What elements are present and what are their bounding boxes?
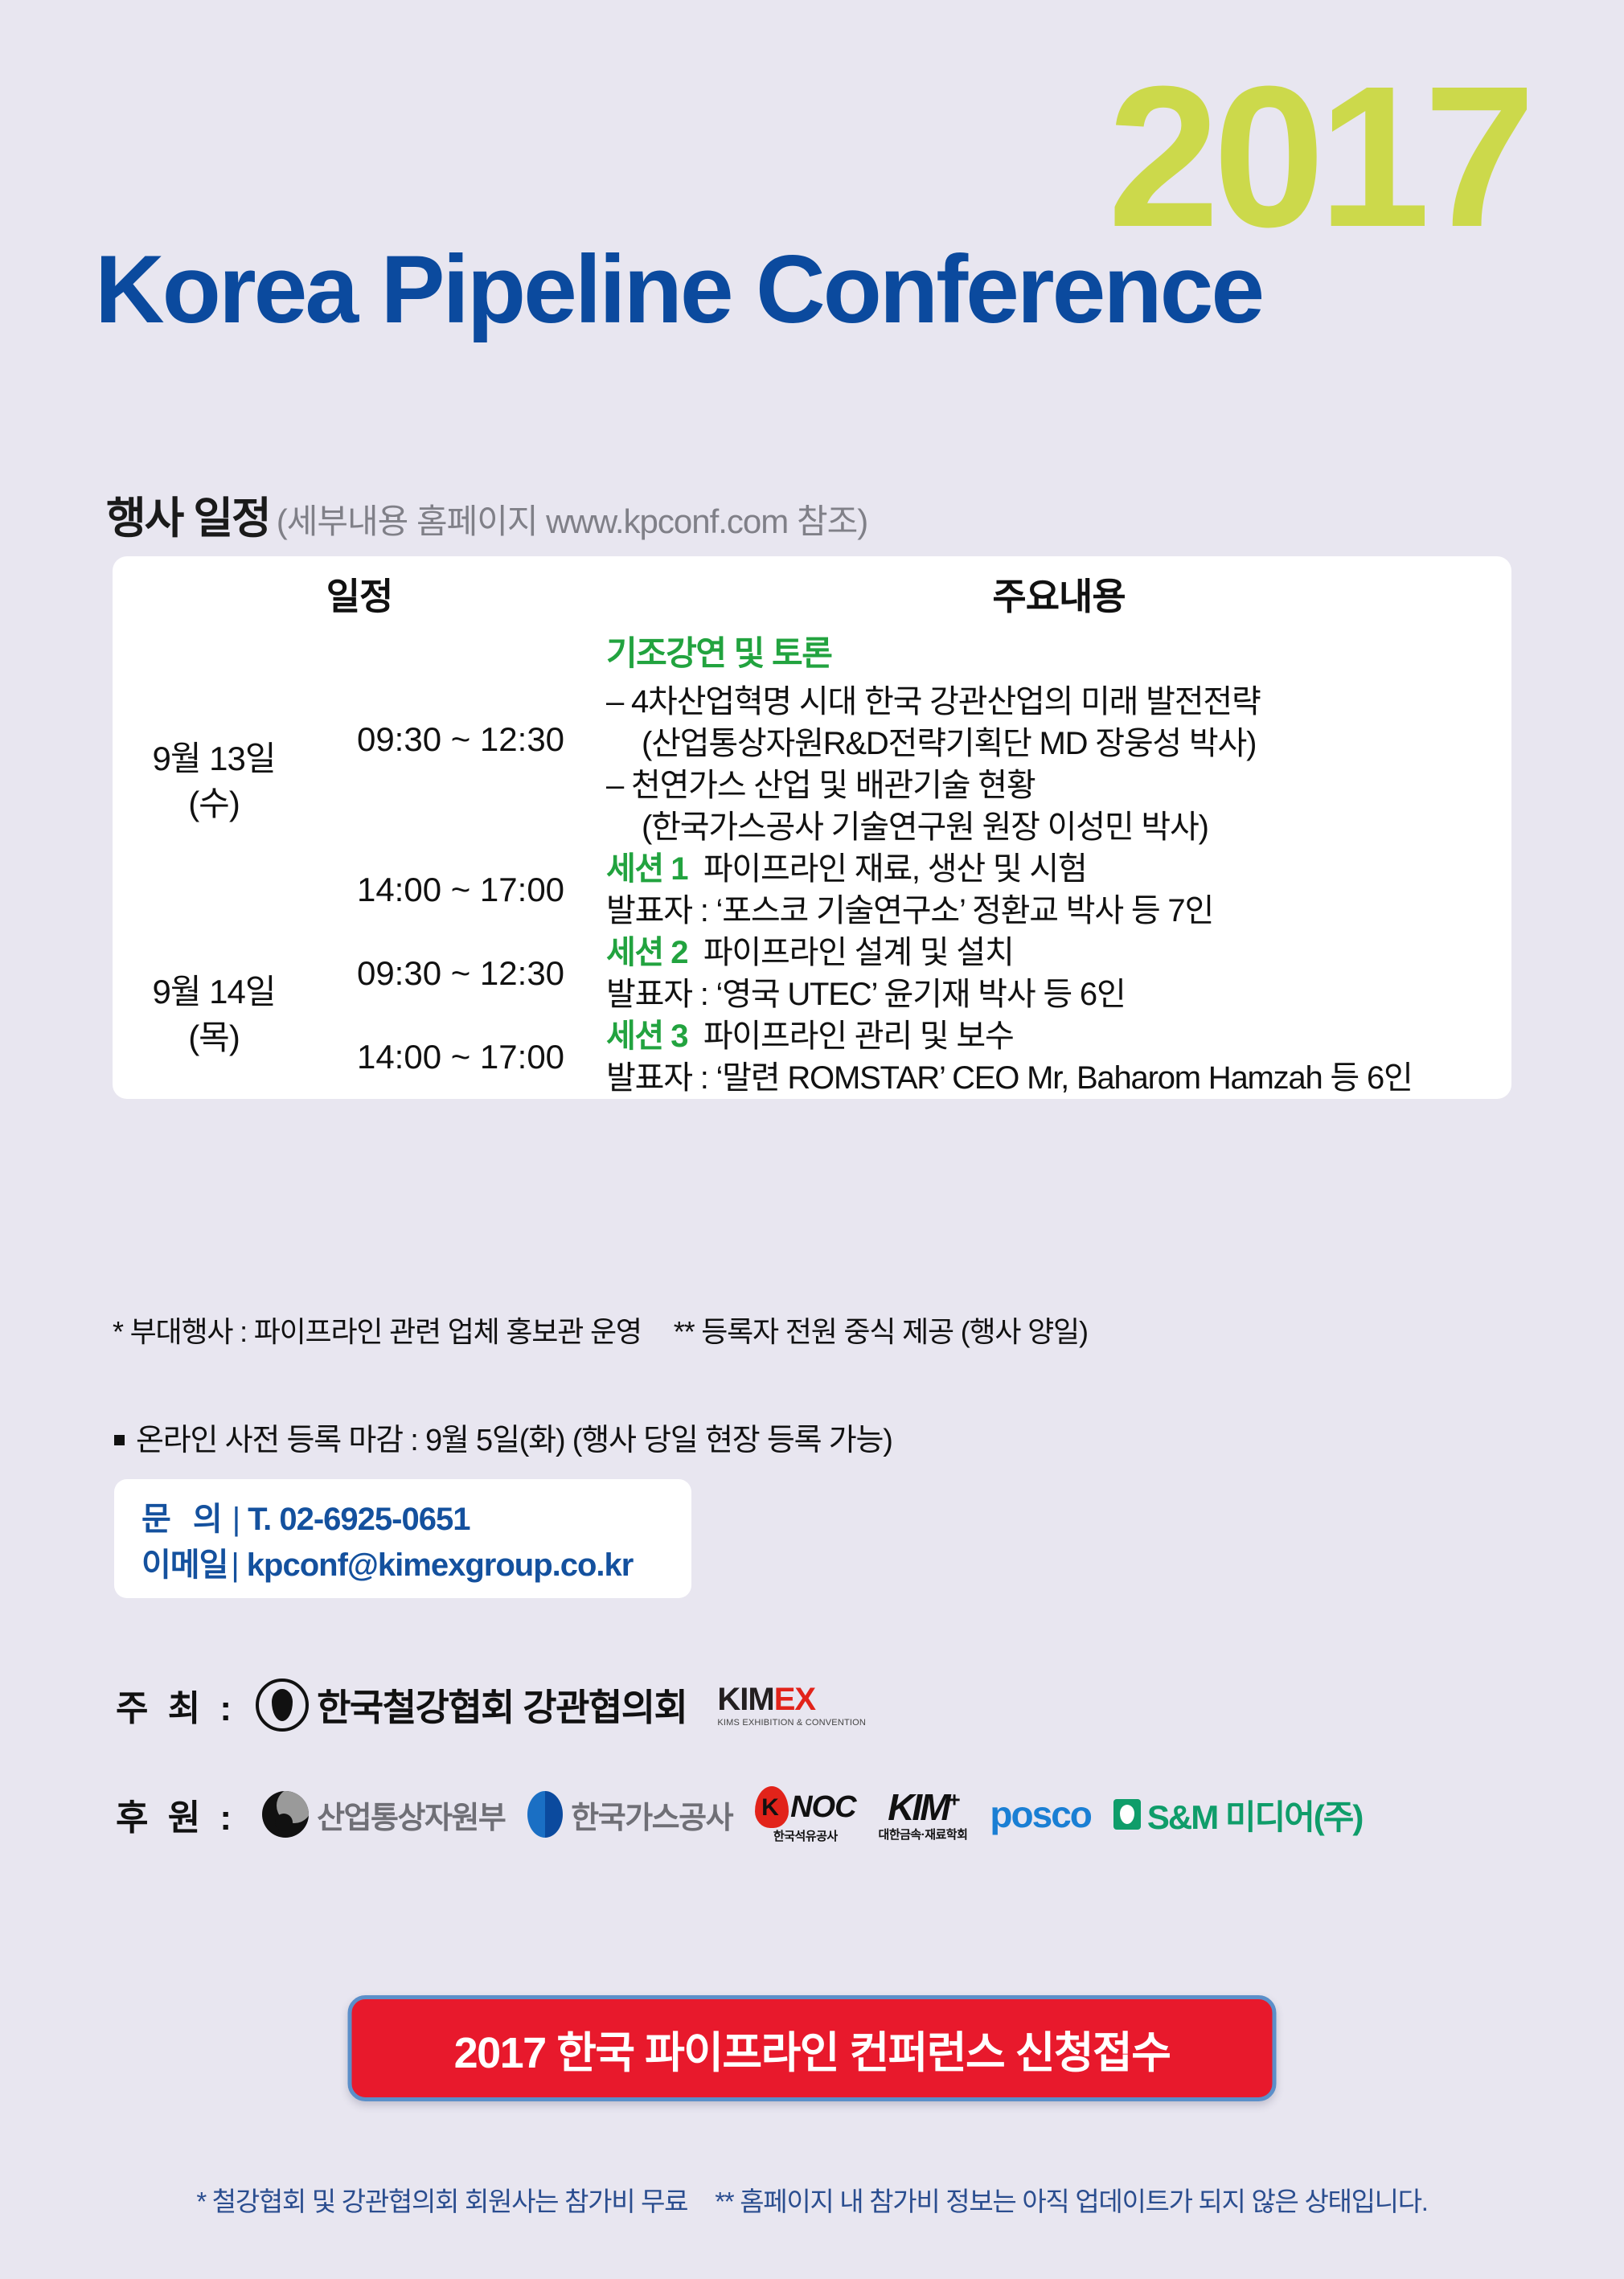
sponsor-knoc: NOC 한국석유공사 — [755, 1786, 855, 1842]
contact-phone-row: 문 의|T. 02-6925-0651 — [141, 1497, 691, 1543]
session3-presenter: 발표자 : ‘말련 ROMSTAR’ CEO Mr, Baharom Hamza… — [606, 1057, 1511, 1099]
knoc-mark-icon — [755, 1786, 789, 1828]
sponsor-kogas: 한국가스공사 — [527, 1791, 732, 1838]
motie-name: 산업통상자원부 — [317, 1793, 505, 1837]
kogas-leaf-icon — [527, 1791, 563, 1838]
session3-heading: 세션 3 파이프라인 관리 및 보수 — [606, 1015, 1511, 1057]
sponsor-label: 후 원 : — [116, 1789, 236, 1840]
session3-topic: 파이프라인 관리 및 보수 — [703, 1019, 1014, 1054]
table-row: 14:00 ~ 17:00 세션 1 파이프라인 재료, 생산 및 시험 발표자… — [113, 848, 1511, 932]
kim-plus-sign: + — [949, 1787, 958, 1811]
table-header-row: 일정 주요내용 — [113, 556, 1511, 632]
schedule-footnotes: * 부대행사 : 파이프라인 관련 업체 홍보관 운영** 등록자 전원 중식 … — [113, 1309, 1088, 1351]
contact-separator: | — [231, 1547, 238, 1583]
session2-topic: 파이프라인 설계 및 설치 — [703, 935, 1014, 970]
sponsor-row: 후 원 : 산업통상자원부 한국가스공사 NOC 한국석유공사 KIM+ 대한금… — [116, 1786, 1362, 1842]
square-bullet-icon — [114, 1435, 125, 1445]
schedule-heading: 행사 일정(세부내용 홈페이지 www.kpconf.com 참조) — [106, 482, 867, 546]
cell-time-session2: 09:30 ~ 12:30 — [315, 932, 606, 1015]
kimex-accent: EX — [774, 1682, 815, 1717]
column-header-content: 주요내용 — [606, 556, 1511, 632]
session3-label: 세션 3 — [606, 1019, 687, 1054]
table-row: 9월 14일 (목) 09:30 ~ 12:30 세션 2 파이프라인 설계 및… — [113, 932, 1511, 1015]
table-row: 9월 13일 (수) 09:30 ~ 12:30 기조강연 및 토론 – 4차산… — [113, 632, 1511, 848]
organizer-kimex: KIMEX KIMS EXHIBITION & CONVENTION — [717, 1683, 866, 1728]
cell-time-session1: 14:00 ~ 17:00 — [315, 848, 606, 932]
keynote-line-4: (한국가스공사 기술연구원 원장 이성민 박사) — [606, 806, 1511, 848]
sponsor-motie: 산업통상자원부 — [262, 1791, 505, 1838]
session1-topic: 파이프라인 재료, 생산 및 시험 — [703, 851, 1087, 887]
cell-content-keynote: 기조강연 및 토론 – 4차산업혁명 시대 한국 강관산업의 미래 발전전략 (… — [606, 632, 1511, 848]
keynote-line-1: – 4차산업혁명 시대 한국 강관산업의 미래 발전전략 — [606, 681, 1511, 723]
cell-date-day1: 9월 13일 (수) — [113, 632, 315, 932]
column-header-schedule: 일정 — [113, 556, 606, 632]
organizer-kosa: 한국철강협회 강관협의회 — [256, 1679, 687, 1732]
knoc-subtitle: 한국석유공사 — [773, 1830, 838, 1842]
contact-email-value[interactable]: kpconf@kimexgroup.co.kr — [247, 1547, 634, 1583]
session2-label: 세션 2 — [606, 935, 687, 970]
organizer-row: 주 최 : 한국철강협회 강관협의회 KIMEX KIMS EXHIBITION… — [116, 1679, 866, 1732]
kimex-subtitle: KIMS EXHIBITION & CONVENTION — [717, 1719, 866, 1728]
contact-phone-label: 문 의 — [141, 1502, 229, 1537]
cell-content-session2: 세션 2 파이프라인 설계 및 설치 발표자 : ‘영국 UTEC’ 윤기재 박… — [606, 932, 1511, 1015]
registration-cta-button[interactable]: 2017 한국 파이프라인 컨퍼런스 신청접수 — [348, 1995, 1277, 2101]
knoc-name: NOC — [790, 1792, 855, 1822]
kimex-logo-icon: KIMEX — [717, 1683, 866, 1715]
sm-media-name: S&M 미디어(주) — [1147, 1790, 1363, 1839]
session2-heading: 세션 2 파이프라인 설계 및 설치 — [606, 932, 1511, 973]
footer-note-1: * 철강협회 및 강관협의회 회원사는 참가비 무료 — [196, 2187, 687, 2216]
weekday-value: (수) — [113, 781, 315, 827]
keynote-line-3: – 천연가스 산업 및 배관기술 현황 — [606, 764, 1511, 806]
schedule-table: 일정 주요내용 9월 13일 (수) 09:30 ~ 12:30 기조강연 및 … — [113, 556, 1511, 1099]
cell-date-day2: 9월 14일 (목) — [113, 932, 315, 1099]
posco-logo-icon: posco — [990, 1793, 1090, 1836]
sponsor-kim: KIM+ 대한금속·재료학회 — [879, 1789, 968, 1841]
cell-time-keynote: 09:30 ~ 12:30 — [315, 632, 606, 848]
kimex-name: KIM — [717, 1682, 773, 1717]
date-value: 9월 14일 — [113, 969, 315, 1015]
footer-note-2: ** 홈페이지 내 참가비 정보는 아직 업데이트가 되지 않은 상태입니다. — [715, 2187, 1427, 2216]
motie-taegeuk-icon — [262, 1791, 309, 1838]
contact-separator: | — [232, 1502, 240, 1537]
kim-subtitle: 대한금속·재료학회 — [879, 1829, 968, 1841]
session1-presenter: 발표자 : ‘포스코 기술연구소’ 정환교 박사 등 7인 — [606, 890, 1511, 932]
kim-plus-logo-icon: KIM+ — [888, 1789, 958, 1826]
schedule-table-container: 일정 주요내용 9월 13일 (수) 09:30 ~ 12:30 기조강연 및 … — [113, 556, 1511, 1099]
year-badge: 2017 — [1108, 56, 1529, 257]
cell-content-session3: 세션 3 파이프라인 관리 및 보수 발표자 : ‘말련 ROMSTAR’ CE… — [606, 1015, 1511, 1099]
schedule-heading-sub: (세부내용 홈페이지 www.kpconf.com 참조) — [277, 502, 867, 540]
kim-name: KIM — [888, 1786, 948, 1828]
footnote-lunch: ** 등록자 전원 중식 제공 (행사 양일) — [674, 1315, 1088, 1348]
kogas-name: 한국가스공사 — [571, 1793, 732, 1837]
cell-content-session1: 세션 1 파이프라인 재료, 생산 및 시험 발표자 : ‘포스코 기술연구소’… — [606, 848, 1511, 932]
contact-email-row: 이메일|kpconf@kimexgroup.co.kr — [141, 1543, 691, 1588]
session1-label: 세션 1 — [606, 851, 687, 887]
table-row: 14:00 ~ 17:00 세션 3 파이프라인 관리 및 보수 발표자 : ‘… — [113, 1015, 1511, 1099]
weekday-value: (목) — [113, 1015, 315, 1061]
registration-cta-label: 2017 한국 파이프라인 컨퍼런스 신청접수 — [454, 2017, 1171, 2080]
session2-presenter: 발표자 : ‘영국 UTEC’ 윤기재 박사 등 6인 — [606, 973, 1511, 1015]
registration-deadline: 온라인 사전 등록 마감 : 9월 5일(화) (행사 당일 현장 등록 가능) — [114, 1415, 892, 1459]
keynote-line-2: (산업통상자원R&D전략기획단 MD 장웅성 박사) — [606, 723, 1511, 764]
sm-media-logo-icon — [1113, 1799, 1141, 1830]
contact-phone-value[interactable]: T. 02-6925-0651 — [248, 1502, 470, 1537]
kosa-name: 한국철강협회 강관협의회 — [317, 1679, 687, 1732]
contact-box: 문 의|T. 02-6925-0651 이메일|kpconf@kimexgrou… — [114, 1479, 691, 1598]
knoc-logo-icon: NOC — [755, 1786, 855, 1828]
sponsor-sm-media: S&M 미디어(주) — [1113, 1790, 1363, 1839]
contact-email-label: 이메일 — [141, 1547, 228, 1583]
page-title: Korea Pipeline Conference — [95, 241, 1262, 338]
poster-header: 2017 Korea Pipeline Conference — [0, 0, 1624, 418]
date-value: 9월 13일 — [113, 736, 315, 782]
keynote-label: 기조강연 및 토론 — [606, 632, 1511, 676]
kosa-seal-icon — [256, 1679, 309, 1732]
organizer-label: 주 최 : — [116, 1679, 236, 1731]
deadline-text: 온라인 사전 등록 마감 : 9월 5일(화) (행사 당일 현장 등록 가능) — [136, 1424, 892, 1457]
cell-time-session3: 14:00 ~ 17:00 — [315, 1015, 606, 1099]
footnote-side-event: * 부대행사 : 파이프라인 관련 업체 홍보관 운영 — [113, 1315, 642, 1348]
schedule-heading-main: 행사 일정 — [106, 494, 270, 543]
session1-heading: 세션 1 파이프라인 재료, 생산 및 시험 — [606, 848, 1511, 890]
footer-notes: * 철강협회 및 강관협의회 회원사는 참가비 무료** 홈페이지 내 참가비 … — [0, 2180, 1624, 2219]
